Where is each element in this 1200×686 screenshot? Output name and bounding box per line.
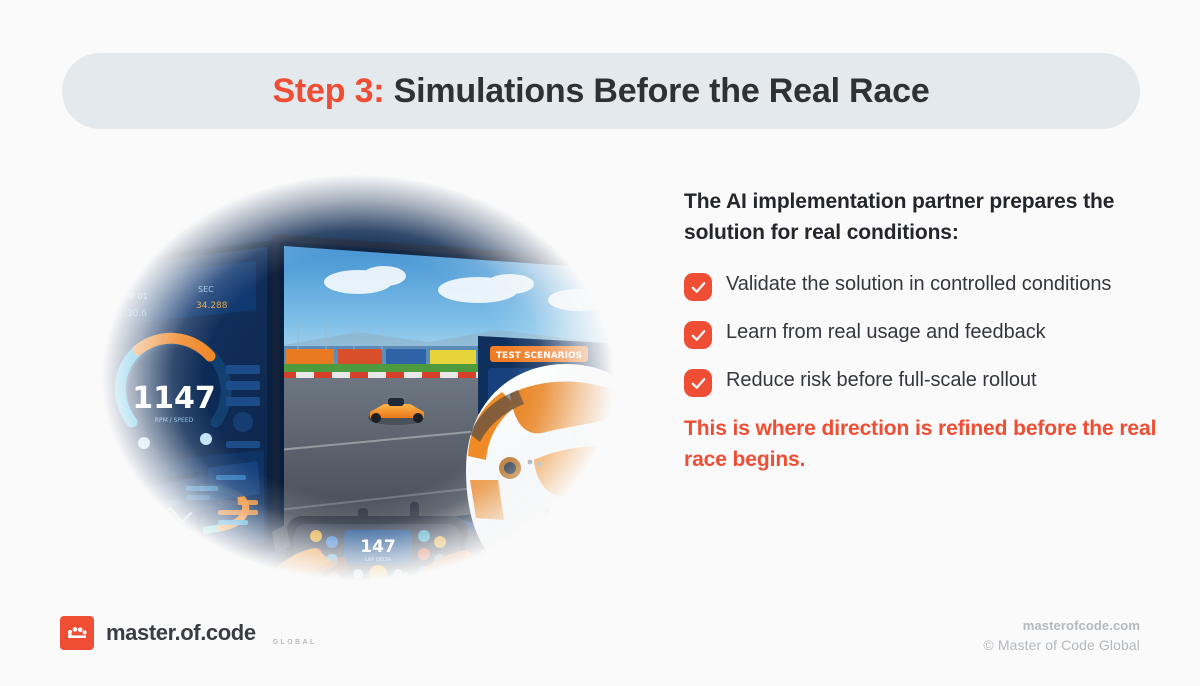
list-item: Learn from real usage and feedback xyxy=(684,318,1160,349)
illustration-canvas: LAP 01 SEC 1:30.6 34.288 1147 RPM / SPEE… xyxy=(58,150,658,605)
list-item-label: Learn from real usage and feedback xyxy=(726,318,1046,346)
logo-glyph xyxy=(65,623,89,643)
svg-text:147: 147 xyxy=(360,537,396,557)
svg-text:34.288: 34.288 xyxy=(196,301,228,311)
step-label: Step 3: xyxy=(272,72,384,110)
svg-text:LAP 01: LAP 01 xyxy=(120,292,148,301)
svg-text:LAP DELTA: LAP DELTA xyxy=(365,557,392,563)
logo-subtext: GLOBAL xyxy=(273,639,317,646)
content-column: The AI implementation partner prepares t… xyxy=(684,186,1160,475)
closing-statement: This is where direction is refined befor… xyxy=(684,414,1160,475)
footer-credit: masterofcode.com © Master of Code Global xyxy=(983,618,1140,653)
list-item: Reduce risk before full-scale rollout xyxy=(684,366,1160,397)
list-item-label: Validate the solution in controlled cond… xyxy=(726,270,1111,298)
svg-text:RPM / SPEED: RPM / SPEED xyxy=(155,417,194,424)
check-icon xyxy=(684,321,712,349)
title-text: Simulations Before the Real Race xyxy=(384,72,929,110)
intro-text: The AI implementation partner prepares t… xyxy=(684,186,1160,248)
website-url: masterofcode.com xyxy=(983,618,1140,633)
svg-text:TEST SCENARIOS: TEST SCENARIOS xyxy=(496,351,582,361)
speed-gauge: 1147 RPM / SPEED xyxy=(120,338,226,452)
svg-text:1:30.6: 1:30.6 xyxy=(118,309,147,319)
cockpit-scene-svg: LAP 01 SEC 1:30.6 34.288 1147 RPM / SPEE… xyxy=(58,150,658,605)
logo-wordmark: master.of.code xyxy=(106,620,256,646)
copyright-text: © Master of Code Global xyxy=(983,637,1140,653)
list-item-label: Reduce risk before full-scale rollout xyxy=(726,366,1037,394)
list-item: Validate the solution in controlled cond… xyxy=(684,270,1160,301)
page-title: Step 3: Simulations Before the Real Race xyxy=(272,72,929,111)
check-icon xyxy=(684,369,712,397)
svg-text:SEC: SEC xyxy=(198,285,214,294)
header-bar: Step 3: Simulations Before the Real Race xyxy=(62,53,1140,129)
brand-logo: master.of.code GLOBAL xyxy=(60,616,317,650)
slide-root: Step 3: Simulations Before the Real Race xyxy=(0,0,1200,686)
master-of-code-mark-icon xyxy=(60,616,94,650)
illustration: LAP 01 SEC 1:30.6 34.288 1147 RPM / SPEE… xyxy=(58,150,658,605)
svg-text:1147: 1147 xyxy=(132,381,216,416)
benefit-list: Validate the solution in controlled cond… xyxy=(684,270,1160,397)
check-icon xyxy=(684,273,712,301)
